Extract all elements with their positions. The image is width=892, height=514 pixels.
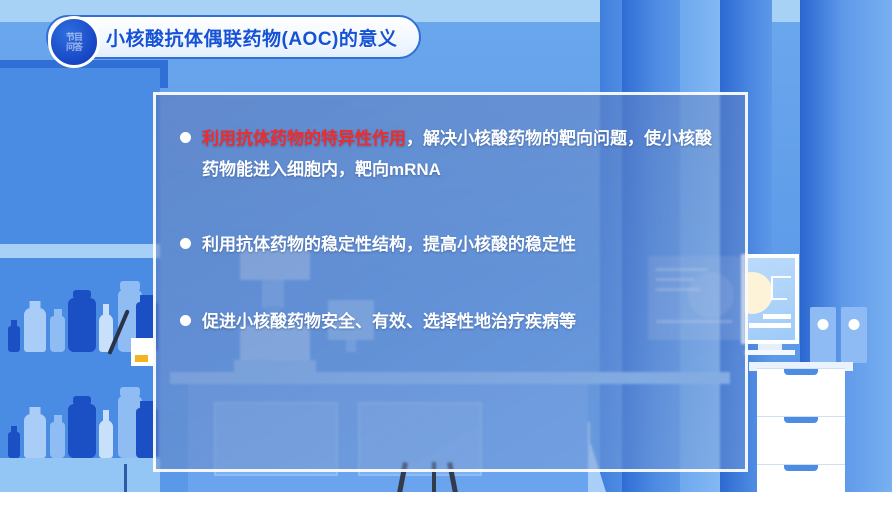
reagent-shelf — [0, 68, 160, 458]
bullet-list: 利用抗体药物的特异性作用，解决小核酸药物的靶向问题，使小核酸药物能进入细胞内，靶… — [180, 123, 717, 363]
bullet-text: 促进小核酸药物安全、有效、选择性地治疗疾病等 — [202, 306, 576, 337]
monitor-graphic — [745, 272, 773, 314]
title-pill: 节目 问答 小核酸抗体偶联药物(AOC)的意义 — [46, 15, 421, 59]
bottle — [50, 422, 65, 458]
monitor-screen — [745, 258, 795, 340]
slide-canvas: 利用抗体药物的特异性作用，解决小核酸药物的靶向问题，使小核酸药物能进入细胞内，靶… — [0, 0, 892, 514]
page-title: 小核酸抗体偶联药物(AOC)的意义 — [106, 24, 397, 51]
document-binder — [810, 307, 836, 363]
shelf-base — [0, 458, 160, 492]
floor — [0, 492, 892, 514]
drawer-handle[interactable] — [784, 465, 818, 471]
title-bar: 节目 问答 小核酸抗体偶联药物(AOC)的意义 — [46, 15, 421, 59]
desktop-monitor — [741, 254, 799, 344]
list-item: 利用抗体药物的稳定性结构，提高小核酸的稳定性 — [180, 229, 717, 260]
bullet-dot-icon — [180, 315, 191, 326]
wall-pillar-5 — [840, 0, 892, 492]
cabinet-drawer[interactable] — [757, 368, 845, 413]
bottle — [24, 414, 46, 458]
bottle — [24, 308, 46, 352]
drawer-handle[interactable] — [784, 417, 818, 423]
binder-ring-icon — [849, 319, 860, 330]
shelf-board — [0, 244, 160, 258]
document-binder — [841, 307, 867, 363]
cabinet-drawer[interactable] — [757, 416, 845, 461]
list-item: 促进小核酸药物安全、有效、选择性地治疗疾病等 — [180, 306, 717, 337]
list-item: 利用抗体药物的特异性作用，解决小核酸药物的靶向问题，使小核酸药物能进入细胞内，靶… — [180, 123, 717, 185]
binder-ring-icon — [818, 319, 829, 330]
bottle — [68, 298, 96, 352]
drawer-handle[interactable] — [784, 369, 818, 375]
bullet-highlight: 利用抗体药物的特异性作用 — [202, 129, 406, 148]
bullet-text: 利用抗体药物的稳定性结构，提高小核酸的稳定性 — [202, 229, 576, 260]
bottle — [99, 420, 113, 458]
logo-mark-text: 节目 问答 — [66, 32, 82, 52]
content-panel: 利用抗体药物的特异性作用，解决小核酸药物的靶向问题，使小核酸药物能进入细胞内，靶… — [153, 92, 748, 472]
bullet-dot-icon — [180, 132, 191, 143]
brand-circle-logo-icon: 节目 问答 — [48, 16, 100, 68]
bottle — [8, 326, 20, 352]
monitor-foot — [745, 350, 795, 355]
bullet-dot-icon — [180, 238, 191, 249]
bottle — [68, 404, 96, 458]
card-chip — [135, 355, 148, 362]
bullet-text: 利用抗体药物的特异性作用，解决小核酸药物的靶向问题，使小核酸药物能进入细胞内，靶… — [202, 123, 717, 185]
bottle — [8, 432, 20, 458]
sample-card — [131, 338, 155, 366]
bottle — [50, 316, 65, 352]
